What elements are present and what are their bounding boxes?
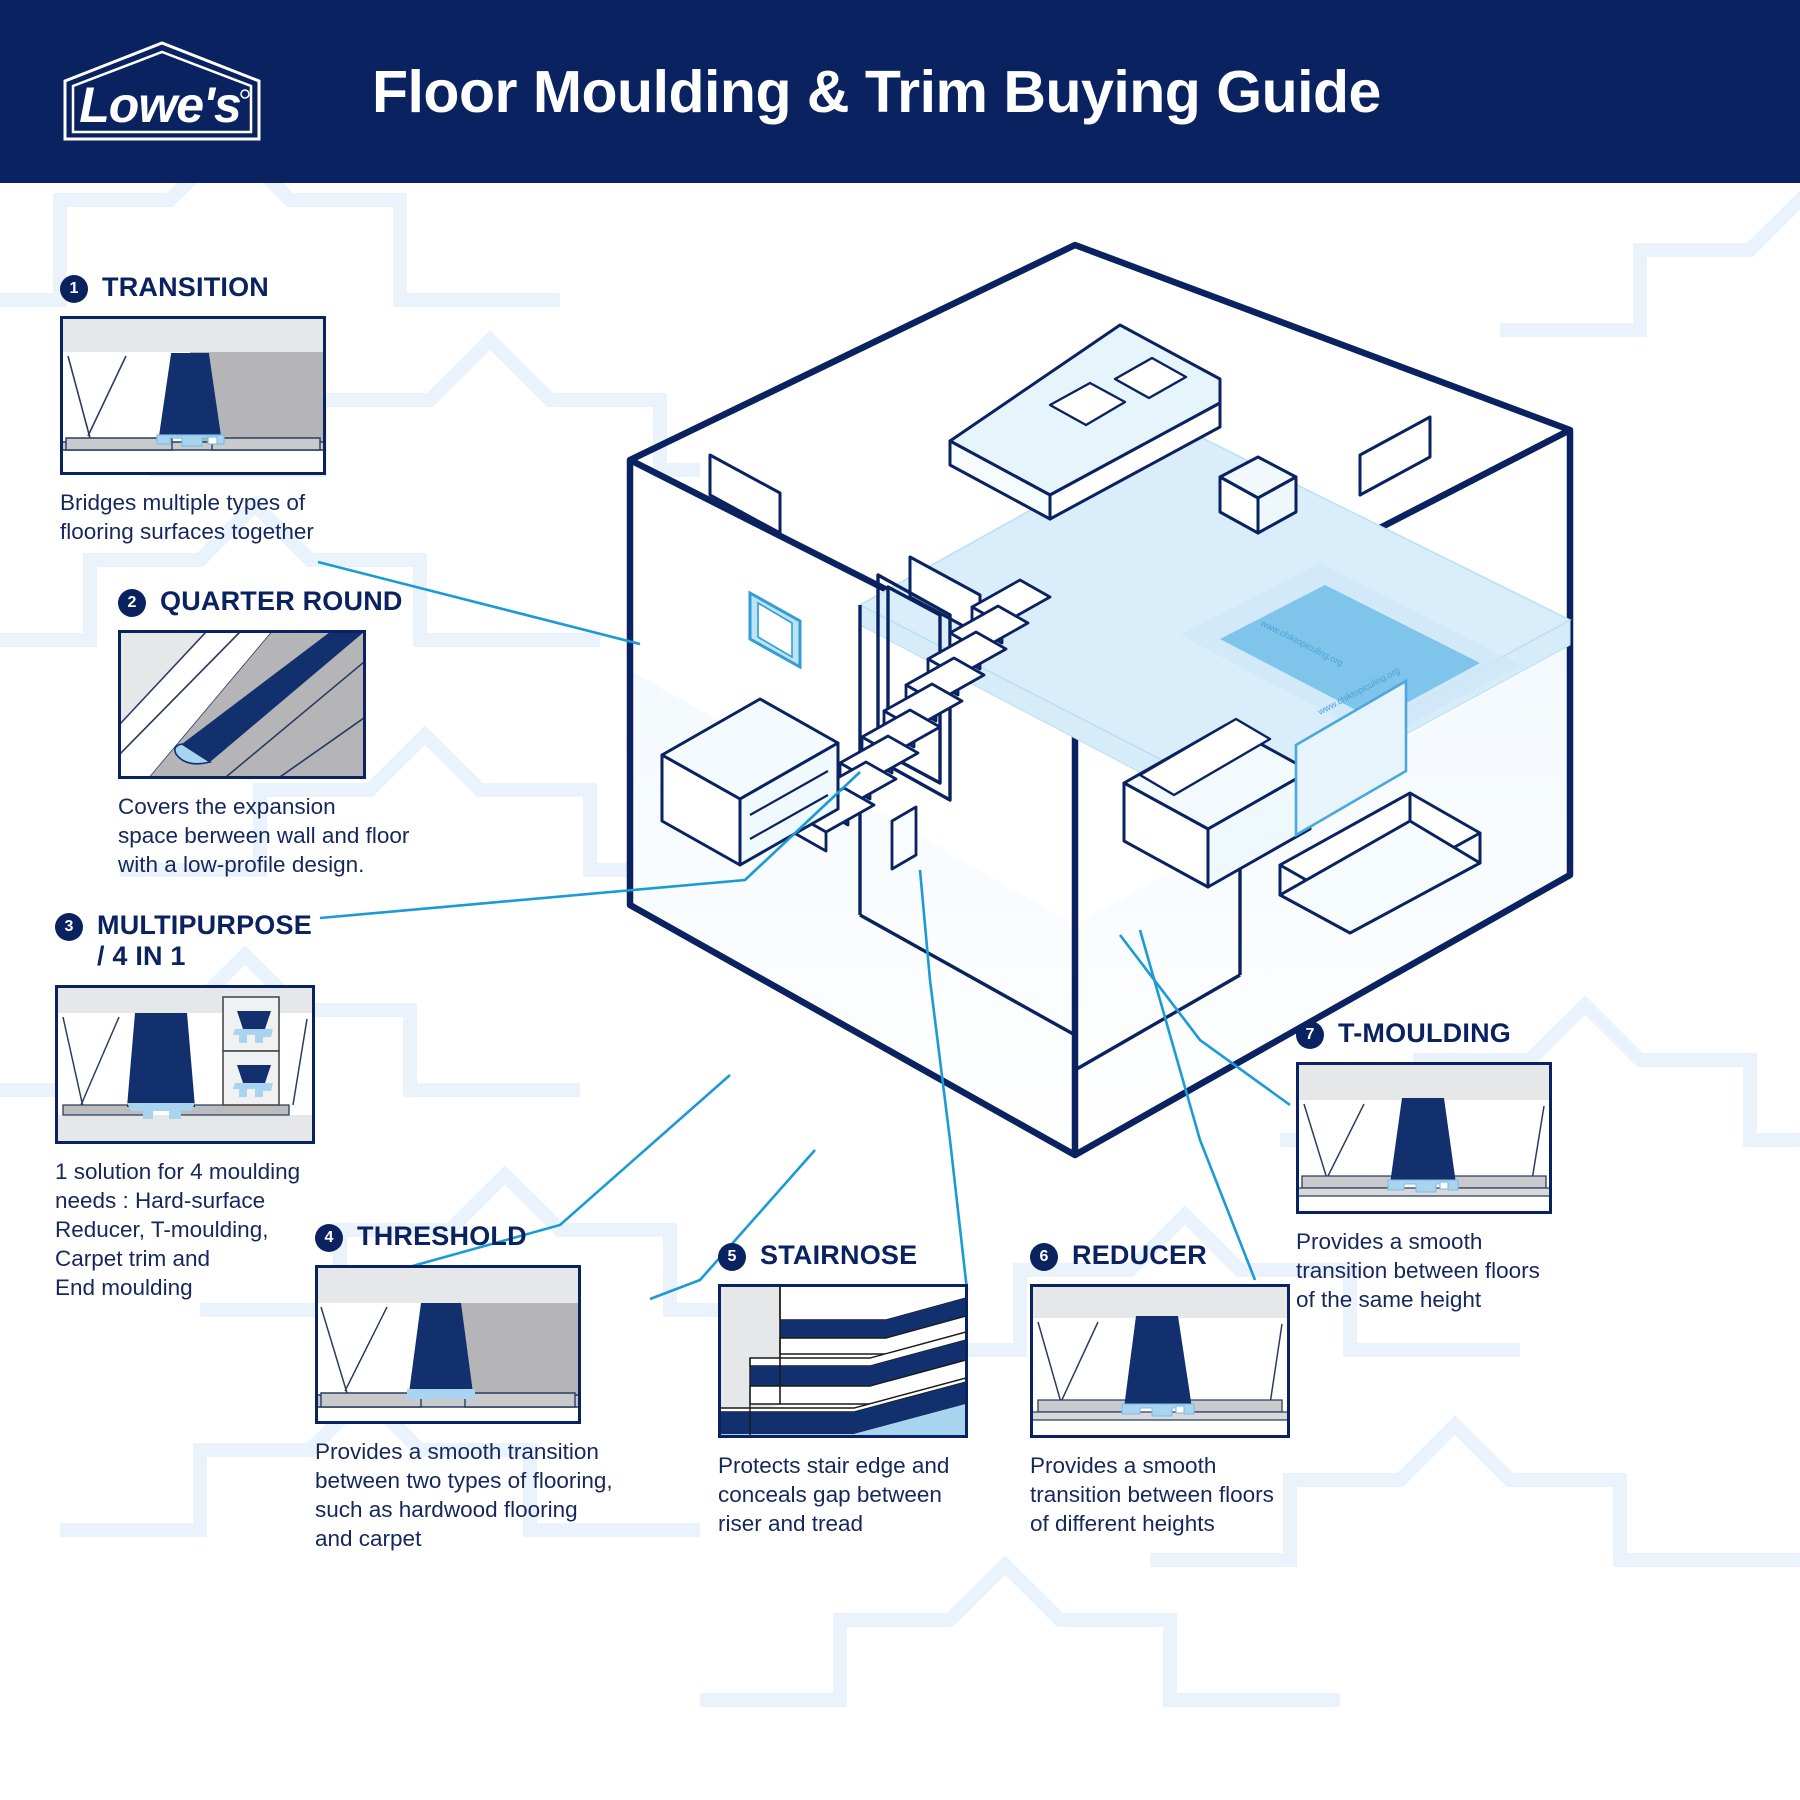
threshold-cross-section-figure <box>315 1265 581 1424</box>
callout-number-badge: 6 <box>1030 1243 1058 1271</box>
callout-reducer: 6 REDUCER Provides a smooth transition b… <box>1030 1240 1290 1538</box>
lowes-logo: Lowe's <box>57 36 267 146</box>
stairnose-steps-figure <box>718 1284 968 1438</box>
infographic-root: Lowe's Floor Moulding & Trim Buying Guid… <box>0 0 1800 1800</box>
callout-threshold: 4 THRESHOLD Provides a smooth transition… <box>315 1221 613 1553</box>
callout-heading: 1 TRANSITION <box>60 272 326 303</box>
callout-number-badge: 2 <box>118 589 146 617</box>
page-title: Floor Moulding & Trim Buying Guide <box>372 58 1381 126</box>
callout-heading: 3 MULTIPURPOSE / 4 IN 1 <box>55 910 315 972</box>
svg-text:Lowe's: Lowe's <box>79 77 241 133</box>
callout-t-moulding: 7 T-MOULDING Provides a smooth transitio… <box>1296 1018 1552 1314</box>
callout-title: STAIRNOSE <box>760 1240 917 1271</box>
transition-cross-section-figure <box>60 316 326 475</box>
multipurpose-cross-section-figure <box>55 985 315 1144</box>
callout-number-badge: 4 <box>315 1224 343 1252</box>
reducer-cross-section-figure <box>1030 1284 1290 1438</box>
callout-title: MULTIPURPOSE / 4 IN 1 <box>97 910 312 972</box>
header-bar: Lowe's Floor Moulding & Trim Buying Guid… <box>0 0 1800 183</box>
callout-description: Protects stair edge and conceals gap bet… <box>718 1451 968 1538</box>
callout-description: Provides a smooth transition between flo… <box>1296 1227 1552 1314</box>
callout-heading: 2 QUARTER ROUND <box>118 586 409 617</box>
callout-heading: 6 REDUCER <box>1030 1240 1290 1271</box>
callout-title: REDUCER <box>1072 1240 1207 1271</box>
callout-description: 1 solution for 4 moulding needs : Hard-s… <box>55 1157 315 1302</box>
callout-number-badge: 3 <box>55 913 83 941</box>
callout-description: Covers the expansion space berween wall … <box>118 792 409 879</box>
callout-description: Provides a smooth transition between two… <box>315 1437 613 1553</box>
window-right <box>1360 417 1430 495</box>
callout-description: Bridges multiple types of flooring surfa… <box>60 488 326 546</box>
callout-stairnose: 5 STAIRNOSE Protects stair edge and conc… <box>718 1240 968 1538</box>
callout-number-badge: 1 <box>60 275 88 303</box>
callout-title: THRESHOLD <box>357 1221 527 1252</box>
callout-title: T-MOULDING <box>1338 1018 1511 1049</box>
callout-number-badge: 5 <box>718 1243 746 1271</box>
callout-quarter-round: 2 QUARTER ROUND Covers the expansion spa… <box>118 586 409 879</box>
callout-title: QUARTER ROUND <box>160 586 403 617</box>
callout-multipurpose: 3 MULTIPURPOSE / 4 IN 1 <box>55 910 315 1302</box>
callout-description: Provides a smooth transition between flo… <box>1030 1451 1290 1538</box>
interior-window <box>750 593 800 667</box>
callout-transition: 1 TRANSITION Bridges multiple types of f… <box>60 272 326 546</box>
callout-number-badge: 7 <box>1296 1021 1324 1049</box>
callout-heading: 5 STAIRNOSE <box>718 1240 968 1271</box>
callout-heading: 4 THRESHOLD <box>315 1221 613 1252</box>
t-moulding-cross-section-figure <box>1296 1062 1552 1214</box>
callout-heading: 7 T-MOULDING <box>1296 1018 1552 1049</box>
quarter-round-figure <box>118 630 366 779</box>
callout-title: TRANSITION <box>102 272 269 303</box>
